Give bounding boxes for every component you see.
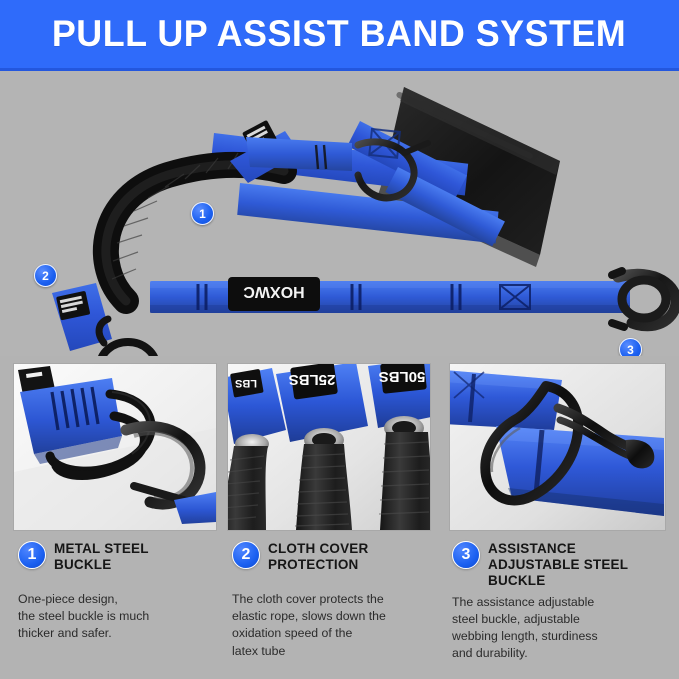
feature-3-body: The assistance adjustable steel buckle, …: [452, 594, 666, 663]
panel-2-illustration: LBS 25LBS: [228, 364, 430, 530]
detail-photo-cloth-cover: LBS 25LBS: [228, 364, 430, 530]
svg-text:LBS: LBS: [235, 377, 257, 389]
hero-illustration: HOXWC: [0, 71, 679, 356]
svg-text:50LBS: 50LBS: [379, 368, 426, 385]
page-title: PULL UP ASSIST BAND SYSTEM: [52, 13, 626, 55]
feature-3-header: 3 ASSISTANCE ADJUSTABLE STEEL BUCKLE: [452, 540, 666, 589]
detail-photo-metal-buckle: [14, 364, 216, 530]
brand-label: HOXWC: [228, 277, 320, 311]
feature-2-body: The cloth cover protects the elastic rop…: [232, 591, 437, 660]
feature-1-number-badge: 1: [18, 541, 46, 569]
svg-text:HOXWC: HOXWC: [243, 283, 305, 300]
hero-marker-3: 3: [619, 338, 642, 356]
detail-photo-row: LBS 25LBS: [0, 364, 679, 530]
upper-strap: [246, 137, 352, 171]
feature-2-header: 2 CLOTH COVER PROTECTION: [232, 540, 437, 574]
feature-column-3: 3 ASSISTANCE ADJUSTABLE STEEL BUCKLE The…: [452, 540, 666, 663]
panel-3-illustration: [450, 364, 665, 530]
hero-marker-2: 2: [34, 264, 57, 287]
feature-2-title: CLOTH COVER PROTECTION: [268, 540, 368, 573]
feature-2-number-badge: 2: [232, 541, 260, 569]
detail-photo-adjustable-buckle: [450, 364, 665, 530]
panel-1-illustration: [14, 364, 216, 530]
feature-3-title: ASSISTANCE ADJUSTABLE STEEL BUCKLE: [488, 540, 628, 589]
header-banner: PULL UP ASSIST BAND SYSTEM: [0, 0, 679, 71]
svg-text:25LBS: 25LBS: [289, 371, 336, 388]
feature-3-number-badge: 3: [452, 541, 480, 569]
lower-long-strap: [150, 281, 630, 313]
feature-1-body: One-piece design, the steel buckle is mu…: [18, 591, 218, 643]
feature-column-2: 2 CLOTH COVER PROTECTION The cloth cover…: [232, 540, 437, 660]
feature-column-1: 1 METAL STEEL BUCKLE One-piece design, t…: [18, 540, 218, 643]
feature-1-header: 1 METAL STEEL BUCKLE: [18, 540, 218, 574]
hero-marker-1: 1: [191, 202, 214, 225]
feature-1-title: METAL STEEL BUCKLE: [54, 540, 149, 573]
feature-columns: 1 METAL STEEL BUCKLE One-piece design, t…: [0, 540, 679, 679]
hero-product-image: HOXWC 1 2 3: [0, 71, 679, 356]
product-infographic: PULL UP ASSIST BAND SYSTEM: [0, 0, 679, 679]
